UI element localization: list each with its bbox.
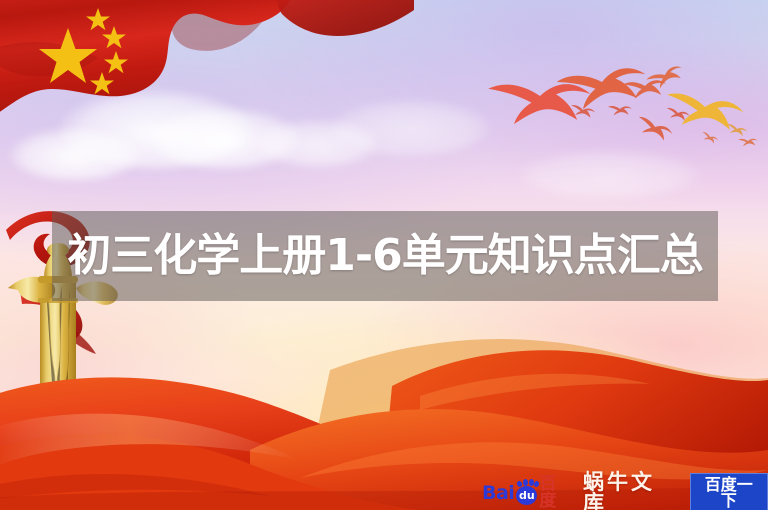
dove-small <box>608 105 632 117</box>
baidu-chinese-text: 百度 <box>539 476 570 510</box>
title-overlay-bar: 初三化学上册1-6单元知识点汇总 <box>52 211 718 301</box>
dove-small <box>634 116 674 142</box>
flag-tail <box>262 0 414 36</box>
poster-image: 初三化学上册1-6单元知识点汇总 Bai du 百度 蜗牛文库 百度一下 <box>0 0 768 510</box>
baidu-paw-icon: du <box>515 482 537 505</box>
baidu-logo-text: Bai <box>482 484 514 503</box>
site-name-watermark: 蜗牛文库 <box>583 472 677 510</box>
dove-small <box>738 137 758 147</box>
dove-small <box>725 124 748 137</box>
watermark-bar: Bai du 百度 蜗牛文库 百度一下 <box>482 478 768 508</box>
page-title: 初三化学上册1-6单元知识点汇总 <box>67 234 703 278</box>
china-national-flag <box>0 0 414 157</box>
baidu-paw-label: du <box>515 486 538 505</box>
paw-toe <box>523 479 528 486</box>
baidu-logo[interactable]: Bai du 百度 <box>482 482 570 504</box>
dove-small <box>700 132 719 145</box>
baidu-search-button[interactable]: 百度一下 <box>690 473 768 510</box>
